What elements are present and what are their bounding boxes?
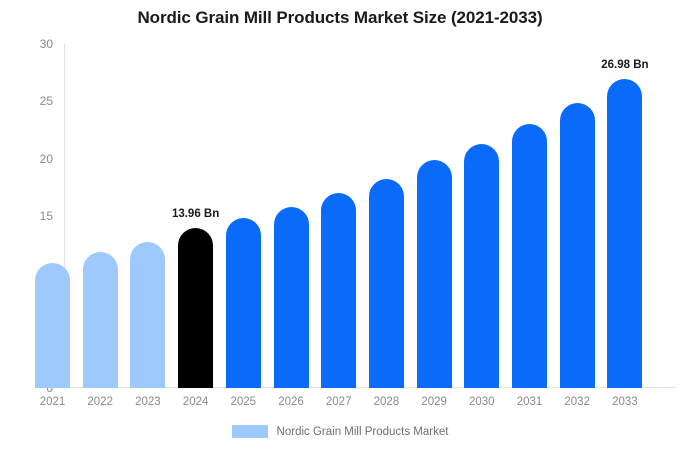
bar-2024[interactable] bbox=[178, 228, 213, 388]
x-axis-tick-2029: 2029 bbox=[421, 396, 447, 408]
x-axis-tick-2031: 2031 bbox=[517, 396, 543, 408]
x-axis-tick-2027: 2027 bbox=[326, 396, 352, 408]
bar-value-label-2033: 26.98 Bn bbox=[601, 59, 648, 71]
bar-2028[interactable] bbox=[369, 179, 404, 388]
x-axis-tick-2022: 2022 bbox=[87, 396, 113, 408]
bar-2026[interactable] bbox=[274, 207, 309, 388]
x-axis-tick-2028: 2028 bbox=[374, 396, 400, 408]
y-axis-tick-30: 30 bbox=[40, 37, 64, 51]
bar-2021[interactable] bbox=[35, 263, 70, 388]
bar-2023[interactable] bbox=[130, 242, 165, 388]
bar-2030[interactable] bbox=[464, 144, 499, 388]
x-axis-tick-2030: 2030 bbox=[469, 396, 495, 408]
bar-2031[interactable] bbox=[512, 124, 547, 388]
y-axis-tick-25: 25 bbox=[40, 94, 64, 108]
legend-swatch-icon bbox=[232, 425, 268, 438]
x-axis-tick-2033: 2033 bbox=[612, 396, 638, 408]
bar-2032[interactable] bbox=[560, 103, 595, 388]
y-axis-tick-20: 20 bbox=[40, 152, 64, 166]
x-axis-tick-2032: 2032 bbox=[564, 396, 590, 408]
x-axis-tick-2021: 2021 bbox=[40, 396, 66, 408]
bar-2027[interactable] bbox=[321, 193, 356, 388]
x-axis-tick-2023: 2023 bbox=[135, 396, 161, 408]
bar-chart-container: Nordic Grain Mill Products Market Size (… bbox=[0, 0, 680, 450]
legend-item-label: Nordic Grain Mill Products Market bbox=[277, 426, 449, 438]
x-axis-tick-2024: 2024 bbox=[183, 396, 209, 408]
x-axis-tick-2025: 2025 bbox=[231, 396, 257, 408]
chart-legend: Nordic Grain Mill Products Market bbox=[0, 425, 680, 438]
bar-value-label-2024: 13.96 Bn bbox=[172, 208, 219, 220]
chart-title: Nordic Grain Mill Products Market Size (… bbox=[0, 8, 680, 28]
bar-2022[interactable] bbox=[83, 252, 118, 388]
y-axis-tick-15: 15 bbox=[40, 209, 64, 223]
bar-2033[interactable] bbox=[607, 79, 642, 388]
bar-2025[interactable] bbox=[226, 218, 261, 388]
bar-2029[interactable] bbox=[417, 160, 452, 388]
x-axis-tick-2026: 2026 bbox=[278, 396, 304, 408]
plot-area: 13.96 Bn26.98 Bn bbox=[64, 44, 676, 388]
